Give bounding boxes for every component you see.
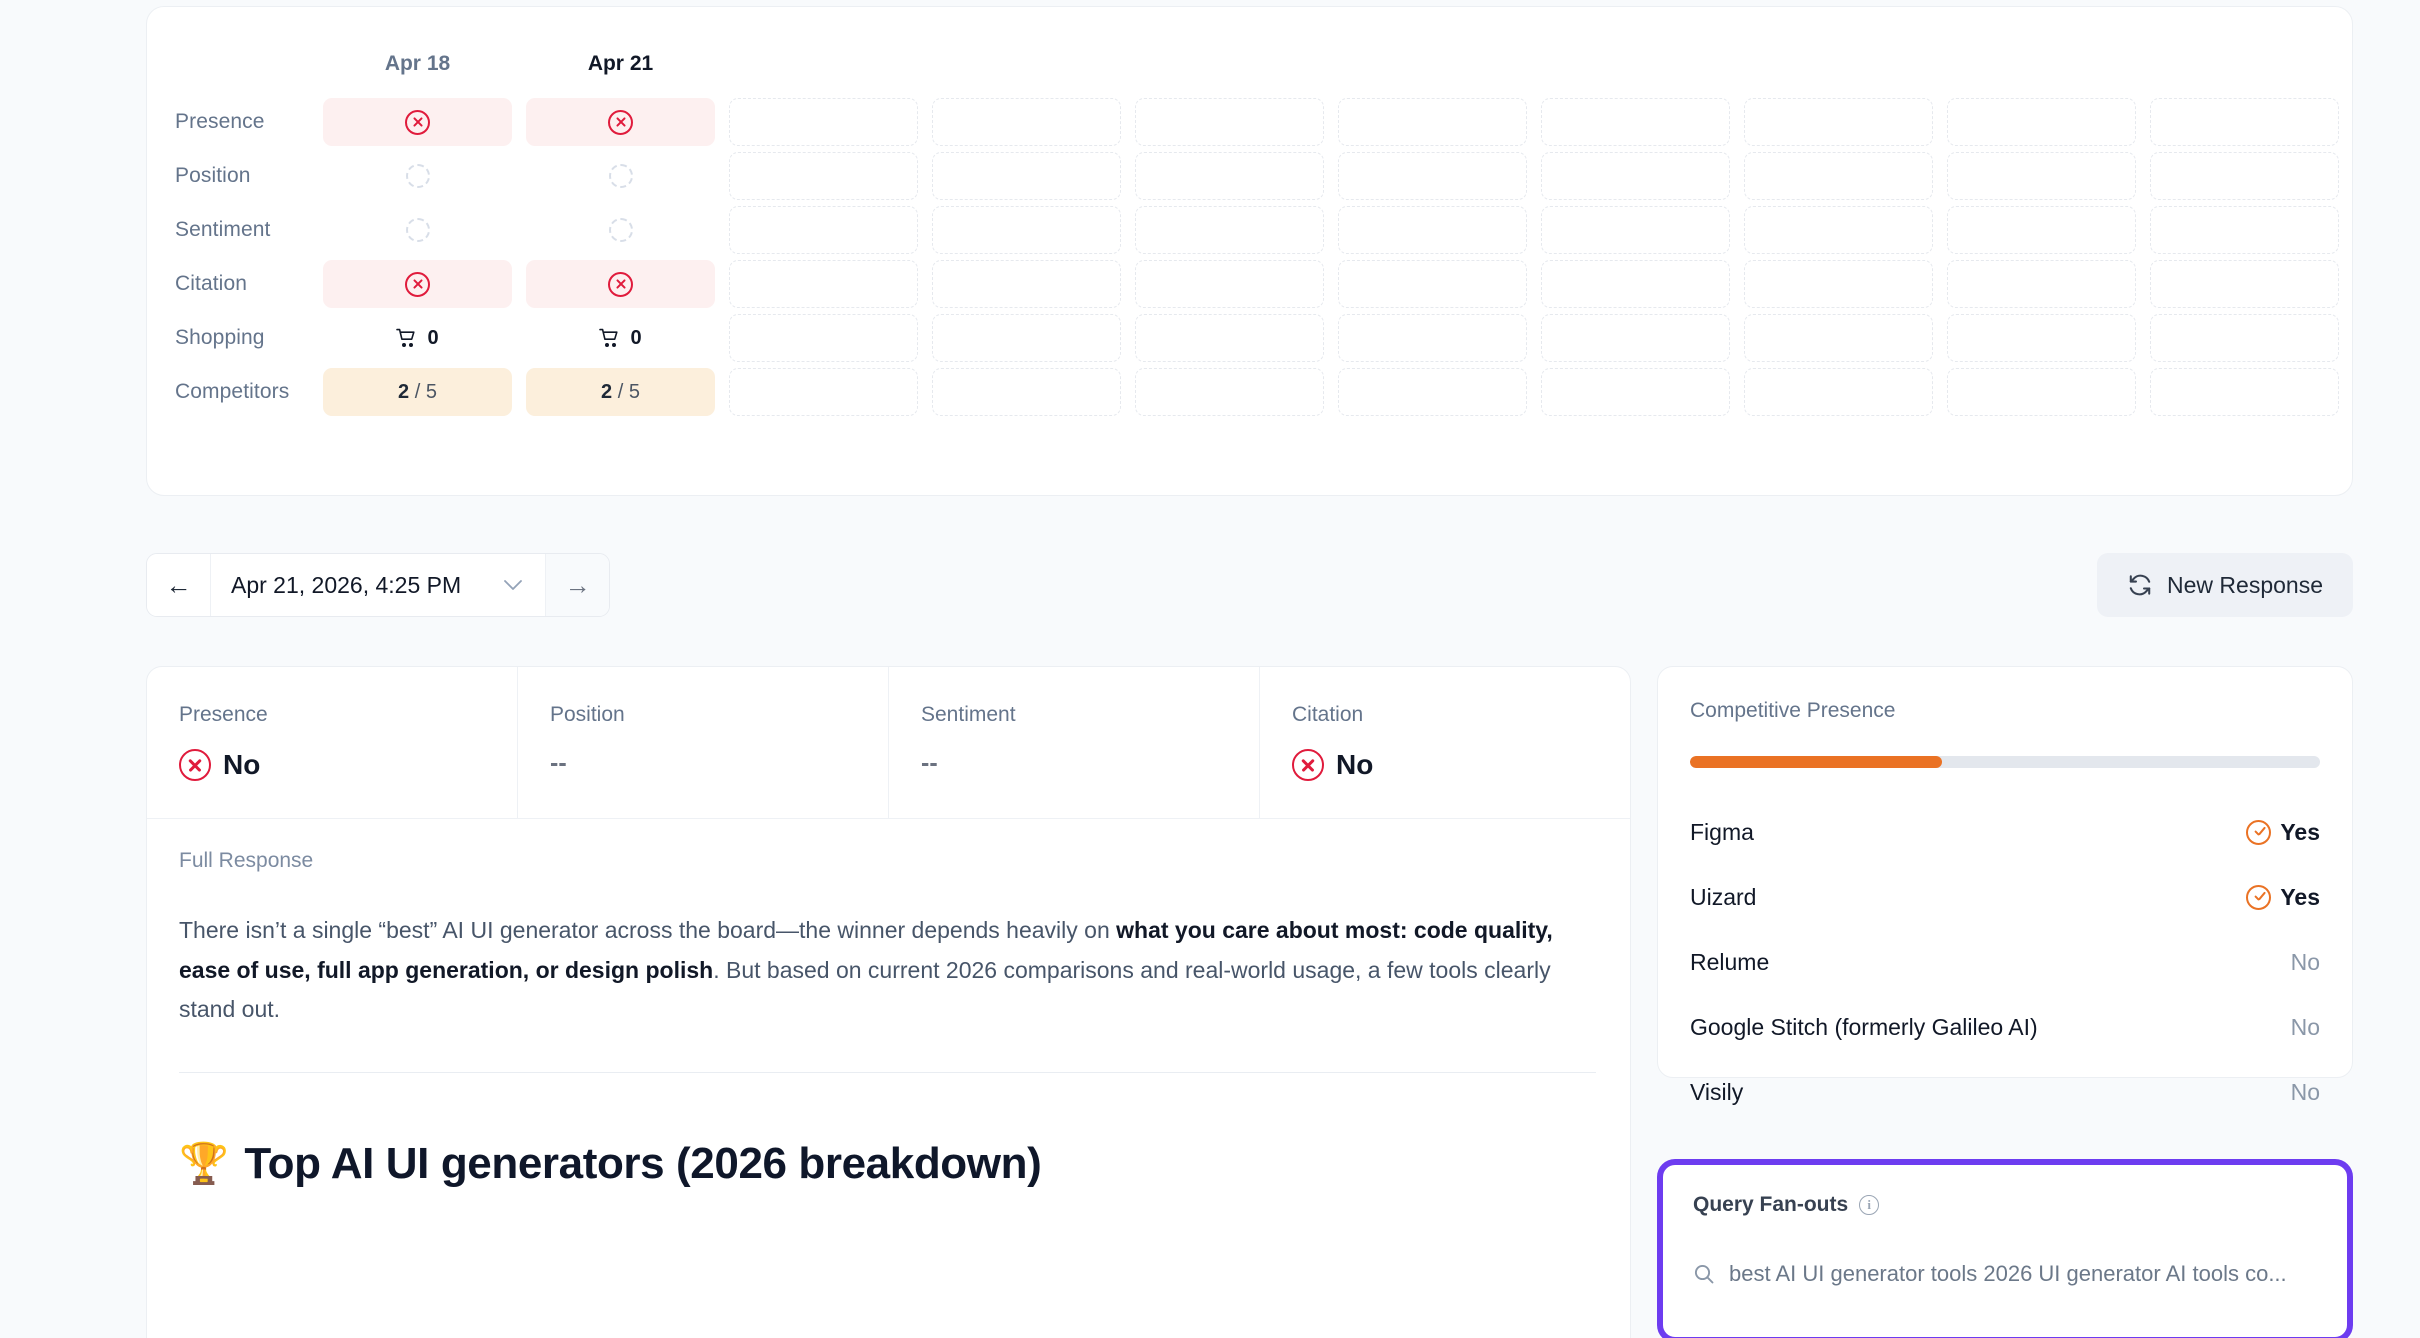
x-circle-icon [405,110,430,135]
matrix-column-header[interactable]: Apr 18 [323,49,512,79]
cart-icon [396,328,418,348]
matrix-row-cells [323,98,2339,146]
metric-value: -- [921,749,1259,778]
competitor-presence-value: No [2291,1014,2320,1041]
arrow-left-icon: ← [166,572,192,598]
competitor-presence-value: No [2291,949,2320,976]
date-navigation-bar[interactable]: ← Apr 21, 2026, 4:25 PM → [146,553,610,617]
shopping-count-value: 0 [630,327,641,350]
matrix-cell-placeholder [1744,206,1933,254]
next-response-button[interactable]: → [545,554,609,616]
matrix-cell[interactable] [323,152,512,200]
matrix-cell-placeholder [1947,368,2136,416]
matrix-row-cells [323,152,2339,200]
metric-card: Position-- [518,667,889,818]
response-heading-text: Top AI UI generators (2026 breakdown) [244,1139,1041,1189]
response-paragraph: There isn’t a single “best” AI UI genera… [179,911,1596,1030]
new-response-button[interactable]: New Response [2097,553,2353,617]
competitor-presence-value: Yes [2246,819,2320,846]
shopping-count-value: 0 [427,327,438,350]
matrix-cell-placeholder [932,152,1121,200]
matrix-cell-placeholder [2150,98,2339,146]
new-response-label: New Response [2167,572,2323,599]
matrix-cell[interactable]: 0 [526,314,715,362]
competitive-presence-card: Competitive Presence FigmaYesUizardYesRe… [1657,666,2353,1078]
competitor-name: Google Stitch (formerly Galileo AI) [1690,1014,2038,1041]
query-fanouts-inner: Query Fan-outs i best AI UI generator to… [1663,1165,2347,1287]
matrix-row-label: Citation [173,272,323,296]
matrix-cell[interactable] [323,260,512,308]
metric-card: Sentiment-- [889,667,1260,818]
matrix-cell-placeholder [932,206,1121,254]
matrix-cell-placeholder [1338,260,1527,308]
competitor-name: Figma [1690,819,1754,846]
dashed-ring-icon [609,164,633,188]
competitor-presence-value: No [2291,1079,2320,1106]
query-fanout-item[interactable]: best AI UI generator tools 2026 UI gener… [1693,1261,2317,1287]
matrix-cell-placeholder [729,206,918,254]
metric-value-text: No [1336,749,1373,781]
matrix-cell-placeholder [1744,368,1933,416]
matrix-cell-placeholder [729,152,918,200]
shopping-count: 0 [396,327,438,350]
matrix-cell[interactable]: 2 / 5 [526,368,715,416]
metric-value-text: No [223,749,260,781]
matrix-cell-placeholder [1338,98,1527,146]
matrix-cell-placeholder [2150,152,2339,200]
competitor-ratio: 2 / 5 [601,381,640,404]
matrix-row-label: Presence [173,110,323,134]
arrow-right-icon: → [565,572,591,598]
matrix-row-cells: 2 / 52 / 5 [323,368,2339,416]
matrix-cell[interactable] [526,152,715,200]
matrix-cell-placeholder [729,260,918,308]
matrix-cell-placeholder [1135,206,1324,254]
metric-value-text: -- [921,749,938,778]
competitive-presence-title: Competitive Presence [1690,699,2320,723]
paragraph-lead: There isn’t a single “best” AI UI genera… [179,917,1116,943]
matrix-row-cells [323,260,2339,308]
matrix-cell-placeholder [1338,314,1527,362]
matrix-row: Competitors2 / 52 / 5 [173,365,2330,419]
matrix-cell-placeholder [1947,206,2136,254]
matrix-column-header-empty [1947,49,2136,79]
matrix-cell[interactable] [323,206,512,254]
response-heading: 🏆 Top AI UI generators (2026 breakdown) [179,1139,1596,1189]
x-circle-icon [179,749,211,781]
metric-value: -- [550,749,888,778]
competitor-row: FigmaYes [1690,800,2320,865]
dashed-ring-icon [406,218,430,242]
matrix-column-header-empty [2150,49,2339,79]
search-icon [1693,1263,1715,1285]
trophy-icon: 🏆 [179,1140,228,1187]
query-fanouts-header: Query Fan-outs i [1693,1193,2317,1217]
x-circle-icon [608,272,633,297]
matrix-row: Citation [173,257,2330,311]
matrix-cell-placeholder [1541,152,1730,200]
response-body: Full Response There isn’t a single “best… [147,819,1630,1189]
matrix-cell-placeholder [1541,260,1730,308]
matrix-row: Position [173,149,2330,203]
metrics-matrix-card: Apr 18Apr 21PresencePositionSentimentCit… [146,6,2353,496]
date-select[interactable]: Apr 21, 2026, 4:25 PM [211,554,545,616]
competitive-progress-fill [1690,756,1942,768]
full-response-label: Full Response [179,849,1596,873]
metric-label: Position [550,703,888,727]
matrix-cell-placeholder [1947,98,2136,146]
metric-label: Presence [179,703,517,727]
matrix-column-header-empty [1744,49,1933,79]
matrix-cell[interactable] [526,260,715,308]
competitor-ratio: 2 / 5 [398,381,437,404]
metric-label: Sentiment [921,703,1259,727]
matrix-row-label: Shopping [173,326,323,350]
matrix-row-label: Sentiment [173,218,323,242]
x-circle-icon [608,110,633,135]
matrix-cell-placeholder [2150,368,2339,416]
matrix-column-header-empty [1135,49,1324,79]
shopping-count: 0 [599,327,641,350]
matrix-cell-placeholder [2150,206,2339,254]
refresh-icon [2127,572,2153,598]
chevron-down-icon [503,579,523,591]
app-page: Apr 18Apr 21PresencePositionSentimentCit… [0,0,2420,1338]
matrix-cell-placeholder [932,98,1121,146]
info-icon[interactable]: i [1859,1195,1879,1215]
matrix-column-header-empty [1541,49,1730,79]
matrix-cell[interactable]: 2 / 5 [323,368,512,416]
selected-date-label: Apr 21, 2026, 4:25 PM [231,572,461,599]
metric-value-text: -- [550,749,567,778]
matrix-cell-placeholder [1541,314,1730,362]
competitor-presence-text: No [2291,1079,2320,1106]
metrics-matrix-grid: Apr 18Apr 21PresencePositionSentimentCit… [147,7,2352,495]
matrix-cell-placeholder [1338,152,1527,200]
metric-label: Citation [1292,703,1630,727]
competitive-progress-track [1690,756,2320,768]
matrix-cell-placeholder [932,368,1121,416]
competitor-row: VisilyNo [1690,1060,2320,1125]
matrix-cell-placeholder [1744,314,1933,362]
matrix-cell-placeholder [1135,152,1324,200]
competitor-presence-text: No [2291,1014,2320,1041]
matrix-cell-placeholder [729,98,918,146]
section-divider [179,1072,1596,1073]
check-circle-icon [2246,885,2271,910]
cart-icon [599,328,621,348]
competitor-name: Visily [1690,1079,1743,1106]
matrix-cell[interactable] [526,206,715,254]
matrix-cell-placeholder [1947,314,2136,362]
matrix-cell-placeholder [729,314,918,362]
metric-card: PresenceNo [147,667,518,818]
response-detail-card: PresenceNoPosition--Sentiment--CitationN… [146,666,1631,1338]
matrix-cell-placeholder [1135,98,1324,146]
query-fanouts-title: Query Fan-outs [1693,1193,1848,1217]
matrix-row: Presence [173,95,2330,149]
matrix-row-cells: 00 [323,314,2339,362]
competitor-name: Uizard [1690,884,1756,911]
matrix-cell-placeholder [1135,260,1324,308]
check-circle-icon [2246,820,2271,845]
matrix-cell-placeholder [729,368,918,416]
competitor-presence-value: Yes [2246,884,2320,911]
matrix-column-header[interactable]: Apr 21 [526,49,715,79]
competitor-row: RelumeNo [1690,930,2320,995]
matrix-column-header-empty [729,49,918,79]
competitor-row: UizardYes [1690,865,2320,930]
matrix-cell-placeholder [1541,206,1730,254]
matrix-cell-placeholder [932,314,1121,362]
matrix-cell-placeholder [1744,98,1933,146]
matrix-column-header-empty [1338,49,1527,79]
metric-value: No [179,749,517,781]
matrix-cell-placeholder [1947,260,2136,308]
dashed-ring-icon [406,164,430,188]
competitor-presence-text: Yes [2280,819,2320,846]
matrix-row: Sentiment [173,203,2330,257]
competitor-list: FigmaYesUizardYesRelumeNoGoogle Stitch (… [1690,800,2320,1125]
matrix-row-label: Position [173,164,323,188]
matrix-header-cells: Apr 18Apr 21 [323,49,2339,79]
competitor-name: Relume [1690,949,1769,976]
matrix-row: Shopping00 [173,311,2330,365]
competitor-presence-text: Yes [2280,884,2320,911]
matrix-cell[interactable] [323,98,512,146]
matrix-cell-placeholder [1744,260,1933,308]
x-circle-icon [1292,749,1324,781]
matrix-row-cells [323,206,2339,254]
matrix-cell-placeholder [2150,314,2339,362]
competitor-presence-text: No [2291,949,2320,976]
matrix-cell-placeholder [1947,152,2136,200]
competitor-row: Google Stitch (formerly Galileo AI)No [1690,995,2320,1060]
matrix-cell-placeholder [2150,260,2339,308]
x-circle-icon [405,272,430,297]
matrix-cell-placeholder [1744,152,1933,200]
dashed-ring-icon [609,218,633,242]
matrix-cell-placeholder [1338,206,1527,254]
matrix-cell-placeholder [1541,368,1730,416]
matrix-column-header-empty [932,49,1121,79]
metric-value: No [1292,749,1630,781]
matrix-cell[interactable]: 0 [323,314,512,362]
matrix-header-row: Apr 18Apr 21 [173,33,2330,95]
prev-response-button[interactable]: ← [147,554,211,616]
matrix-cell-placeholder [1135,368,1324,416]
matrix-cell[interactable] [526,98,715,146]
query-fanout-text: best AI UI generator tools 2026 UI gener… [1729,1261,2287,1287]
response-metrics-row: PresenceNoPosition--Sentiment--CitationN… [147,667,1630,819]
metric-card: CitationNo [1260,667,1630,818]
matrix-cell-placeholder [932,260,1121,308]
matrix-cell-placeholder [1135,314,1324,362]
matrix-cell-placeholder [1338,368,1527,416]
matrix-row-label: Competitors [173,380,323,404]
query-fanouts-card[interactable]: Query Fan-outs i best AI UI generator to… [1657,1159,2353,1338]
matrix-cell-placeholder [1541,98,1730,146]
